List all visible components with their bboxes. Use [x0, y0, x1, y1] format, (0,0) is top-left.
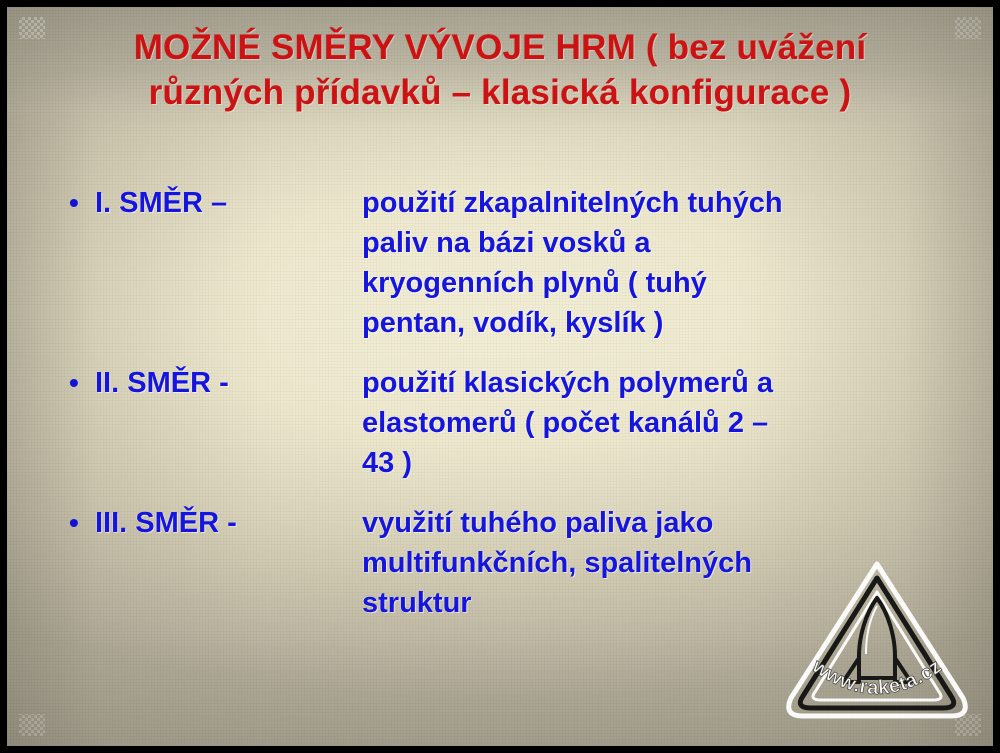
bullet-point-icon: • — [69, 363, 95, 403]
list-item: • II. SMĚR - použití klasických polymerů… — [7, 363, 993, 483]
bullet-list: • I. SMĚR – použití zkapalnitelných tuhý… — [7, 183, 993, 623]
bullet-text: použití zkapalnitelných tuhých paliv na … — [362, 183, 993, 343]
list-item: • III. SMĚR - využití tuhého paliva jako… — [7, 503, 993, 623]
bullet-point-icon: • — [69, 183, 95, 223]
presentation-slide: MOŽNÉ SMĚRY VÝVOJE HRM ( bez uvážení růz… — [0, 0, 1000, 753]
bullet-label: II. SMĚR - — [95, 363, 362, 403]
bullet-text: využití tuhého paliva jako multifunkčníc… — [362, 503, 993, 623]
bullet-label: I. SMĚR – — [95, 183, 362, 223]
list-item: • I. SMĚR – použití zkapalnitelných tuhý… — [7, 183, 993, 343]
bullet-label: III. SMĚR - — [95, 503, 362, 543]
bullet-point-icon: • — [69, 503, 95, 543]
bullet-text: použití klasických polymerů a elastomerů… — [362, 363, 993, 483]
slide-title: MOŽNÉ SMĚRY VÝVOJE HRM ( bez uvážení růz… — [7, 25, 993, 115]
